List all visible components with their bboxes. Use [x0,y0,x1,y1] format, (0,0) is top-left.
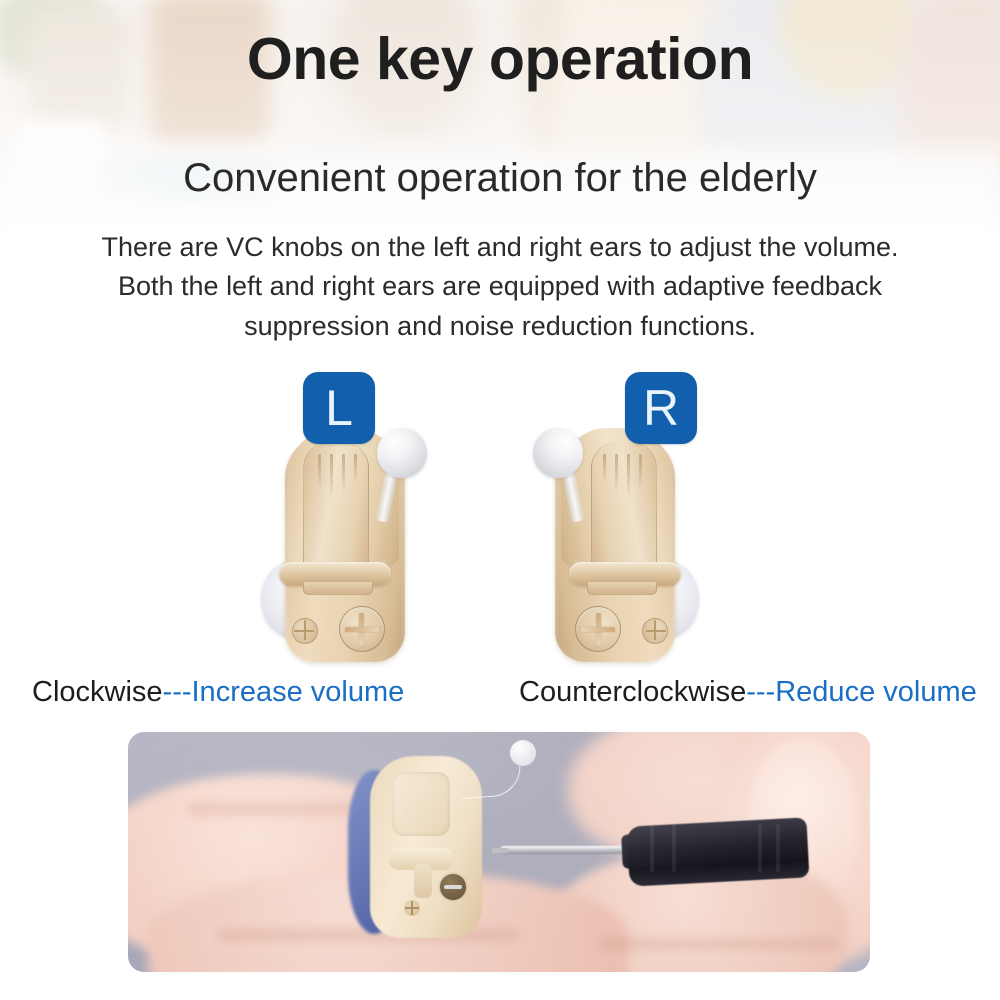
receiver-ball-right [533,428,583,478]
vc-knob-right [575,606,621,652]
description-line-2: Both the left and right ears are equippe… [0,267,1000,306]
hearing-aid-right-image [535,412,695,662]
page-title: One key operation [0,30,1000,89]
description-text: There are VC knobs on the left and right… [0,228,1000,346]
caption-right: Counterclockwise---Reduce volume [519,678,977,707]
latch-lip-left [303,582,373,595]
caption-left: Clockwise---Increase volume [32,678,404,707]
hearing-aid-left-image [265,412,425,662]
caption-right-result: ---Reduce volume [746,676,976,708]
mic-port-left [292,618,318,644]
product-unit-right: R [485,370,785,675]
page-subtitle: Convenient operation for the elderly [0,158,1000,198]
caption-right-action: Counterclockwise [519,676,746,708]
badge-right-ear: R [625,372,697,444]
badge-left-ear: L [303,372,375,444]
latch-lip-right [587,582,657,595]
product-row: L [0,370,1000,675]
description-line-1: There are VC knobs on the left and right… [0,228,1000,267]
infographic-page: One key operation Convenient operation f… [0,0,1000,1000]
caption-left-action: Clockwise [32,676,163,708]
vc-knob-left [339,606,385,652]
receiver-ball-left [377,428,427,478]
adjustment-photo-panel [128,732,870,972]
caption-left-result: ---Increase volume [163,676,405,708]
description-line-3: suppression and noise reduction function… [0,307,1000,346]
mic-port-right [642,618,668,644]
product-unit-left: L [215,370,515,675]
